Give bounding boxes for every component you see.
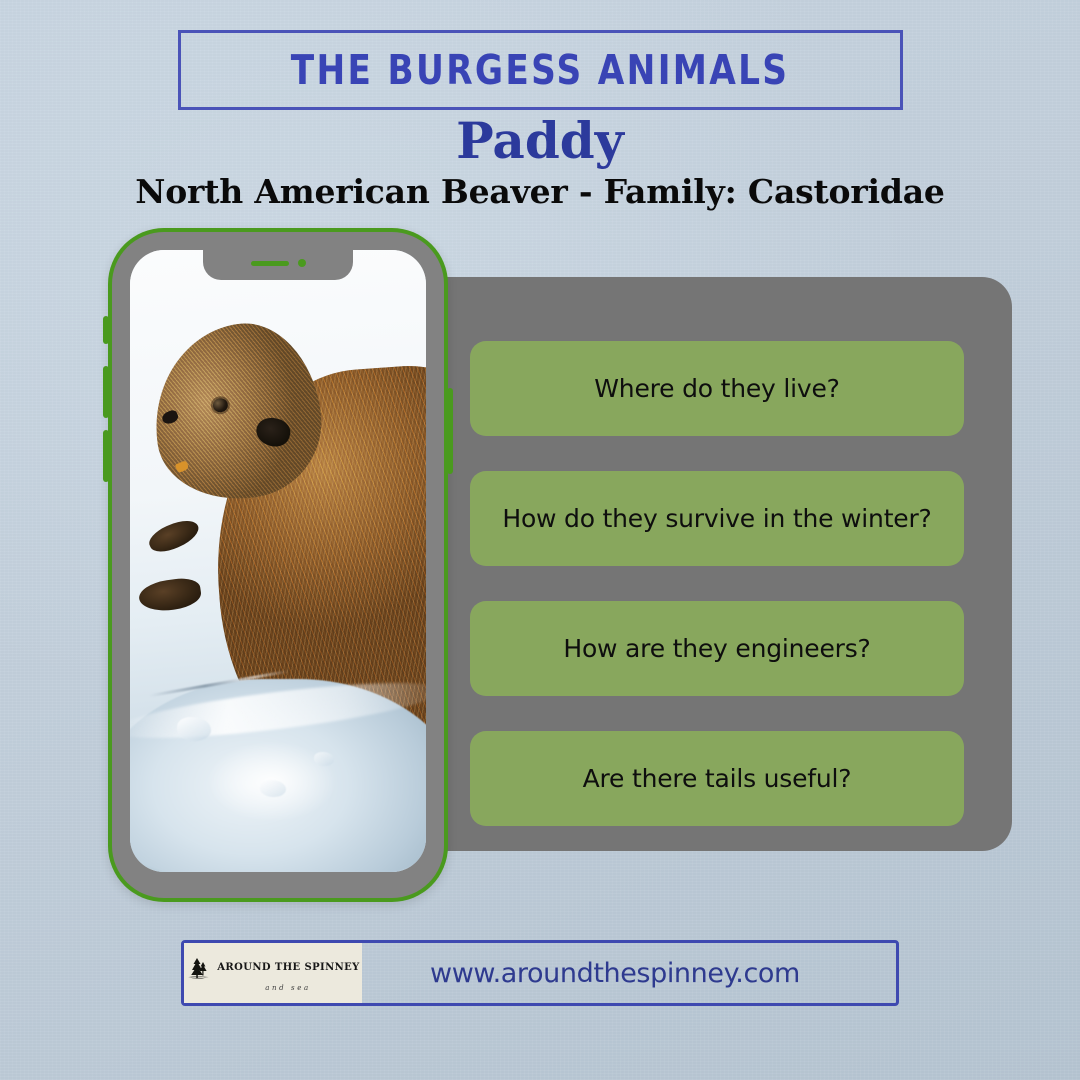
brand-logo[interactable]: Around The Spinney and sea <box>184 943 362 1003</box>
phone-notch <box>203 250 353 280</box>
logo-inner: Around The Spinney <box>186 955 359 981</box>
ice-chunk <box>260 780 286 797</box>
footer-bar: Around The Spinney and sea www.aroundthe… <box>181 940 899 1006</box>
question-button-survive-winter[interactable]: How do they survive in the winter? <box>470 471 964 566</box>
phone-screen[interactable] <box>130 250 426 872</box>
series-title: THE BURGESS ANIMALS <box>291 46 790 94</box>
question-button-where-they-live[interactable]: Where do they live? <box>470 341 964 436</box>
phone-mockup <box>108 228 448 902</box>
ice-chunk <box>314 752 334 766</box>
pine-tree-icon <box>186 955 212 981</box>
species-subtitle: North American Beaver - Family: Castorid… <box>0 172 1080 211</box>
phone-silence-switch[interactable] <box>103 316 109 344</box>
phone-volume-down-button[interactable] <box>103 430 109 482</box>
page-title: Paddy <box>0 111 1080 170</box>
front-camera-icon <box>298 259 306 267</box>
speaker-grille-icon <box>251 261 289 266</box>
website-url[interactable]: www.aroundthespinney.com <box>362 958 896 989</box>
question-list: Where do they live? How do they survive … <box>470 341 964 826</box>
logo-wordmark: Around The Spinney <box>217 963 359 973</box>
ice-chunk <box>177 717 211 741</box>
phone-power-button[interactable] <box>447 388 453 474</box>
phone-volume-up-button[interactable] <box>103 366 109 418</box>
logo-tagline: and sea <box>265 984 311 992</box>
beaver-photo <box>130 250 426 872</box>
question-button-engineers[interactable]: How are they engineers? <box>470 601 964 696</box>
question-button-tails-useful[interactable]: Are there tails useful? <box>470 731 964 826</box>
series-title-box: THE BURGESS ANIMALS <box>178 30 903 110</box>
